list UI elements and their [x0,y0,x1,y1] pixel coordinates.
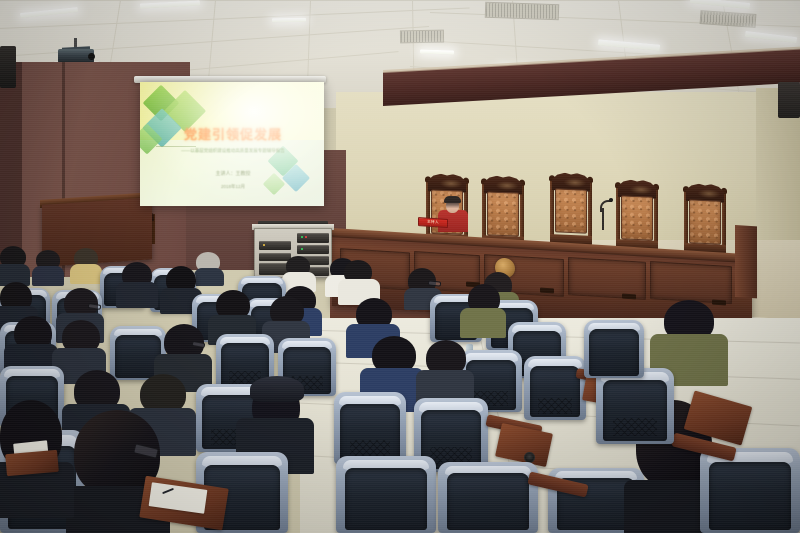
auditorium-seat[interactable] [334,392,406,464]
seat-tablet-arm[interactable] [5,450,59,476]
audience-person [286,256,312,284]
audience-person [164,324,204,366]
audience-person [468,284,500,318]
seat-net-pocket [613,418,657,436]
audience-person [372,336,416,382]
auditorium-seat[interactable] [336,456,436,533]
bench-vent [540,288,554,294]
audience-person [122,262,152,294]
projector-lens-icon [88,53,95,60]
audience-person-with-cap [250,376,302,430]
audience-person [408,268,436,298]
audience-person [14,316,52,356]
dais-chair-3 [548,172,594,238]
audience-person [270,296,304,332]
audience-person [664,300,714,356]
audience-person [344,260,374,292]
left-wall-edge [0,62,22,277]
auditorium-seat[interactable] [596,368,674,444]
projection-screen: 党建引领促发展 ——以基层党组织建设推动高质量发展专题辅导报告 主讲人：王教授 … [140,82,324,206]
seat-net-pocket [350,440,390,457]
audience-person [64,288,98,324]
ceiling-vent [400,30,444,44]
wall-speaker-left [0,46,16,88]
seat-net-pocket [538,398,573,413]
audience-person [216,290,250,326]
audience-person [166,266,196,298]
microphone-icon [609,198,613,202]
auditorium-photo: 党建引领促发展 ——以基层党组织建设推动高质量发展专题辅导报告 主讲人：王教授 … [0,0,800,533]
bench-vent [712,300,726,306]
dais-nameplate: 主持人 [418,217,448,228]
dais-chair-5 [682,183,728,247]
audience-person [36,250,60,276]
audience-person [356,298,392,336]
ceiling-light [272,18,306,23]
audience-person [74,248,98,274]
nameplate-text: 主持人 [427,220,439,226]
audience-person [62,320,100,360]
dais-chair-2 [480,175,526,239]
audience-person [0,282,32,316]
baseball-cap [250,376,304,402]
bench-vent [622,294,636,300]
audience-person [196,252,222,278]
screen-glare [140,82,324,206]
audience-person [0,246,26,274]
auditorium-seat[interactable] [584,320,644,378]
dais-speaker-hat [444,196,461,203]
wall-speaker-right [778,82,800,118]
bench-end-post [735,225,757,298]
bench-panel [650,261,732,304]
ceiling-vent [485,2,560,21]
auditorium-seat[interactable] [700,448,800,533]
auditorium-seat[interactable] [438,462,538,533]
audience-person [426,340,466,382]
auditorium-seat[interactable] [524,356,586,420]
dais-chair-4 [614,179,660,243]
